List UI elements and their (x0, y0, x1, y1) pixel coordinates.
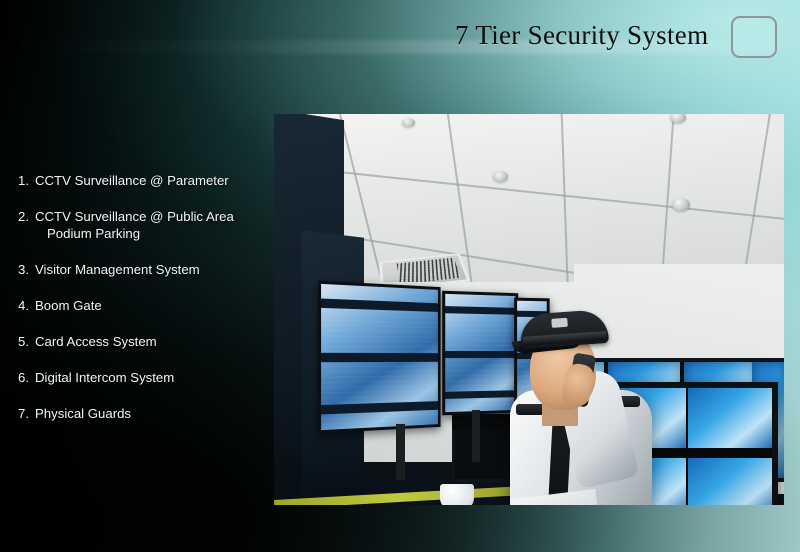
control-room-photo: 13:0 (274, 114, 784, 505)
list-item: 5. Card Access System (18, 333, 266, 350)
list-item: 2. CCTV Surveillance @ Public Area Podiu… (18, 208, 266, 242)
list-item: 7. Physical Guards (18, 405, 266, 422)
list-item-label: Card Access System (35, 334, 157, 349)
ceiling-dome-camera-icon (672, 198, 690, 211)
list-item-number: 6. (18, 369, 35, 386)
list-item-number: 3. (18, 261, 35, 278)
monitor-stand (472, 410, 480, 462)
cap-badge (551, 318, 568, 328)
list-item-label: CCTV Surveillance @ Public Area (35, 209, 234, 224)
list-item: 4. Boom Gate (18, 297, 266, 314)
list-item-number: 1. (18, 172, 35, 189)
ceiling-dome-camera-icon (493, 171, 508, 182)
list-item-number: 7. (18, 405, 35, 422)
list-item: 1. CCTV Surveillance @ Parameter (18, 172, 266, 189)
list-item-number: 4. (18, 297, 35, 314)
list-item: 3. Visitor Management System (18, 261, 266, 278)
list-item: 6. Digital Intercom System (18, 369, 266, 386)
list-item-label: Visitor Management System (35, 262, 200, 277)
monitor-stand (396, 424, 405, 480)
list-item-label: CCTV Surveillance @ Parameter (35, 173, 229, 188)
empty-rounded-box-icon[interactable] (731, 16, 777, 58)
page-title: 7 Tier Security System (455, 20, 708, 51)
list-item-number: 5. (18, 333, 35, 350)
ceiling-dome-camera-icon (670, 114, 686, 123)
list-item-label-continuation: Podium Parking (35, 225, 266, 242)
list-item-number: 2. (18, 208, 35, 242)
list-item-label: Physical Guards (35, 406, 131, 421)
coffee-cup (440, 484, 474, 505)
cctv-monitor (442, 291, 518, 416)
slide-canvas: 7 Tier Security System 1. CCTV Surveilla… (0, 0, 800, 552)
cctv-monitor (318, 281, 441, 434)
security-tier-list: 1. CCTV Surveillance @ Parameter 2. CCTV… (18, 172, 266, 441)
ceiling-dome-camera-icon (402, 118, 415, 127)
list-item-label: Boom Gate (35, 298, 102, 313)
list-item-label: Digital Intercom System (35, 370, 174, 385)
